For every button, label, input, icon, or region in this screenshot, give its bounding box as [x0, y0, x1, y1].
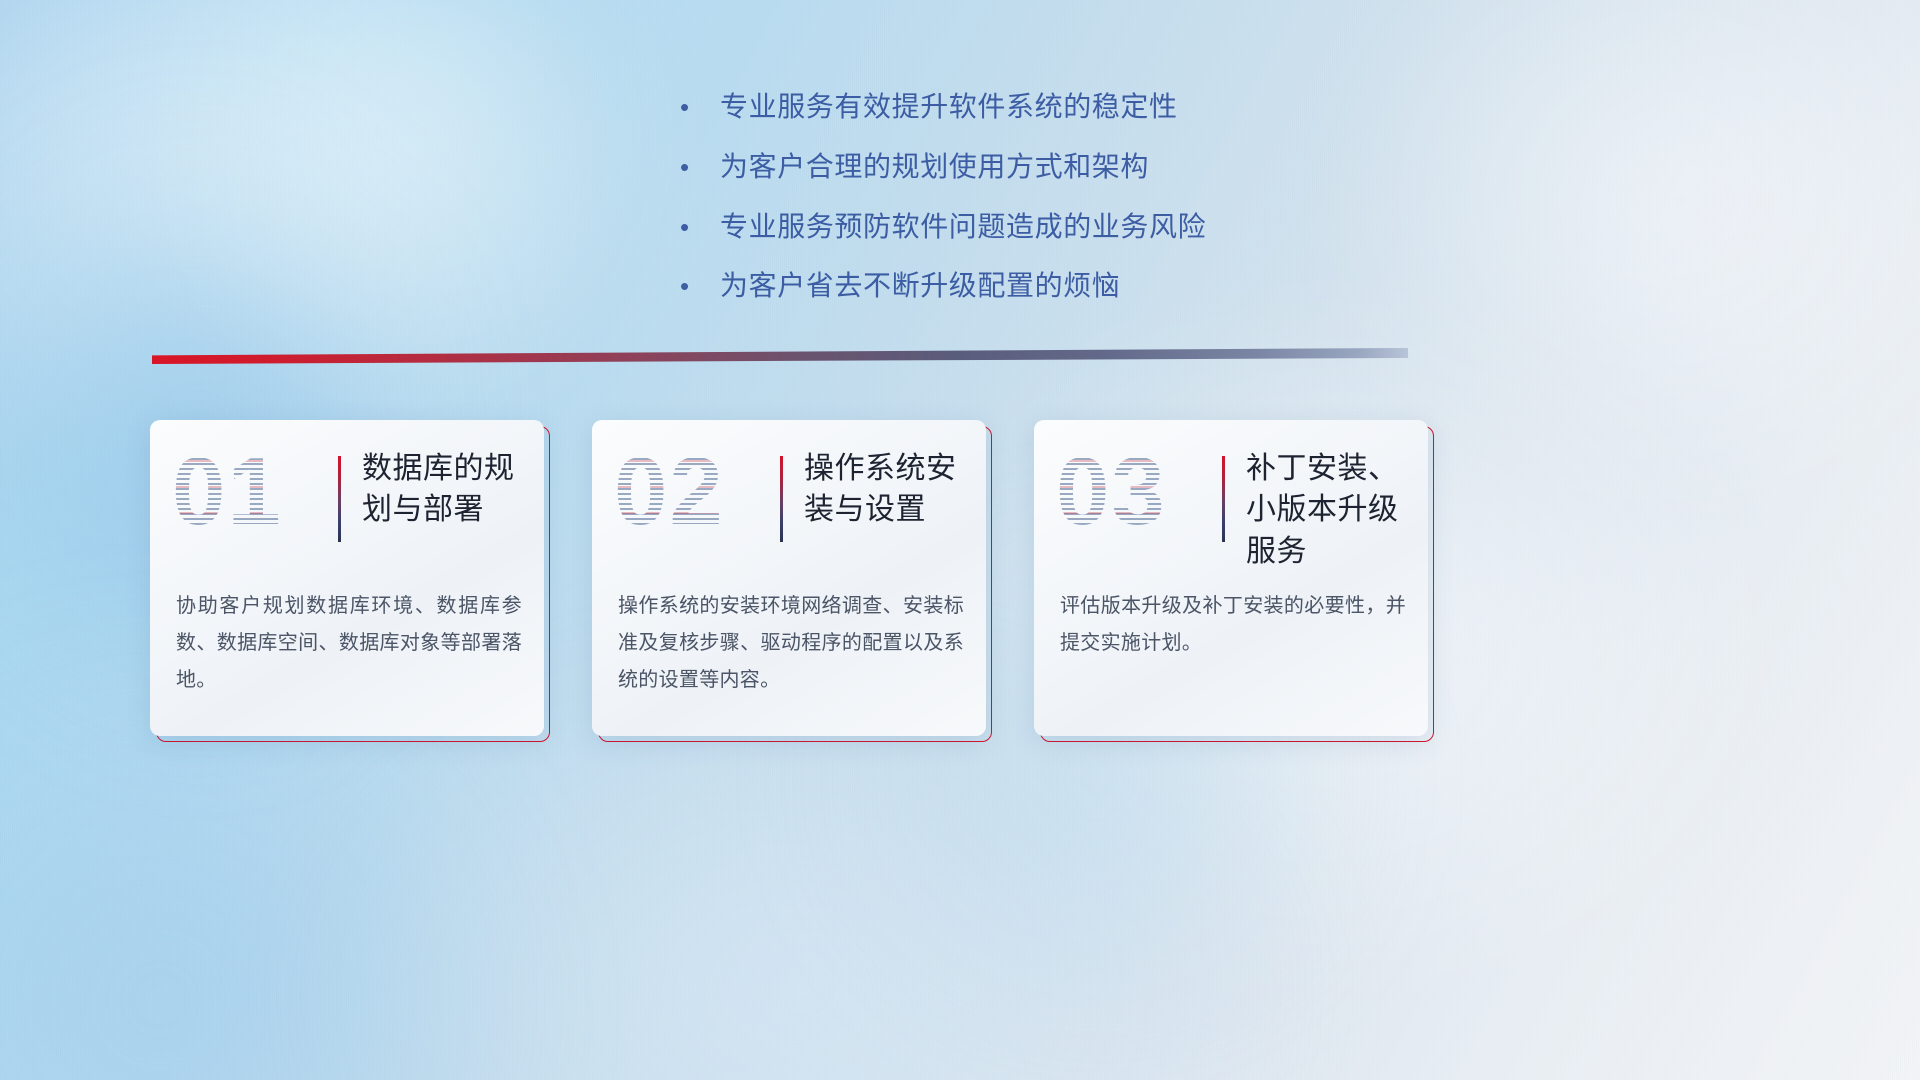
card-body-text: 协助客户规划数据库环境、数据库参数、数据库空间、数据库对象等部署落地。	[176, 588, 522, 699]
card-separator-bar	[1222, 456, 1225, 542]
card-title: 操作系统安装与设置	[804, 448, 982, 531]
card-separator-bar	[780, 456, 783, 542]
card-title: 数据库的规划与部署	[362, 448, 540, 531]
card-number-watermark-tint: 01	[172, 444, 283, 540]
list-item: • 为客户合理的规划使用方式和架构	[680, 148, 1240, 186]
card-separator-bar	[338, 456, 341, 542]
card-number-watermark-tint: 02	[614, 444, 725, 540]
bullet-text: 为客户合理的规划使用方式和架构	[720, 148, 1149, 186]
service-card[interactable]: 03 03 补丁安装、小版本升级服务 评估版本升级及补丁安装的必要性，并提交实施…	[1034, 420, 1434, 742]
service-card[interactable]: 02 02 操作系统安装与设置 操作系统的安装环境网络调查、安装标准及复核步骤、…	[592, 420, 992, 742]
bullet-dot-icon: •	[680, 214, 720, 240]
card-body-text: 评估版本升级及补丁安装的必要性，并提交实施计划。	[1060, 588, 1406, 662]
card-header: 01 01 数据库的规划与部署	[150, 420, 544, 570]
service-card[interactable]: 01 01 数据库的规划与部署 协助客户规划数据库环境、数据库参数、数据库空间、…	[150, 420, 550, 742]
bullet-text: 专业服务有效提升软件系统的稳定性	[720, 88, 1178, 126]
card-number-watermark-tint: 03	[1056, 444, 1167, 540]
divider-line	[152, 348, 1408, 364]
card-body-text: 操作系统的安装环境网络调查、安装标准及复核步骤、驱动程序的配置以及系统的设置等内…	[618, 588, 964, 699]
bullet-dot-icon: •	[680, 94, 720, 120]
section-divider	[152, 348, 1408, 366]
bullet-text: 为客户省去不断升级配置的烦恼	[720, 267, 1120, 305]
bullet-text: 专业服务预防软件问题造成的业务风险	[720, 208, 1206, 246]
benefits-bullet-list: • 专业服务有效提升软件系统的稳定性 • 为客户合理的规划使用方式和架构 • 专…	[0, 88, 1920, 327]
card-face: 01 01 数据库的规划与部署 协助客户规划数据库环境、数据库参数、数据库空间、…	[150, 420, 544, 736]
service-card-list: 01 01 数据库的规划与部署 协助客户规划数据库环境、数据库参数、数据库空间、…	[150, 420, 1434, 742]
bullet-dot-icon: •	[680, 154, 720, 180]
card-header: 02 02 操作系统安装与设置	[592, 420, 986, 570]
card-face: 03 03 补丁安装、小版本升级服务 评估版本升级及补丁安装的必要性，并提交实施…	[1034, 420, 1428, 736]
card-header: 03 03 补丁安装、小版本升级服务	[1034, 420, 1428, 570]
list-item: • 专业服务预防软件问题造成的业务风险	[680, 208, 1240, 246]
list-item: • 专业服务有效提升软件系统的稳定性	[680, 88, 1240, 126]
bullet-dot-icon: •	[680, 273, 720, 299]
card-face: 02 02 操作系统安装与设置 操作系统的安装环境网络调查、安装标准及复核步骤、…	[592, 420, 986, 736]
card-title: 补丁安装、小版本升级服务	[1246, 448, 1424, 572]
list-item: • 为客户省去不断升级配置的烦恼	[680, 267, 1240, 305]
